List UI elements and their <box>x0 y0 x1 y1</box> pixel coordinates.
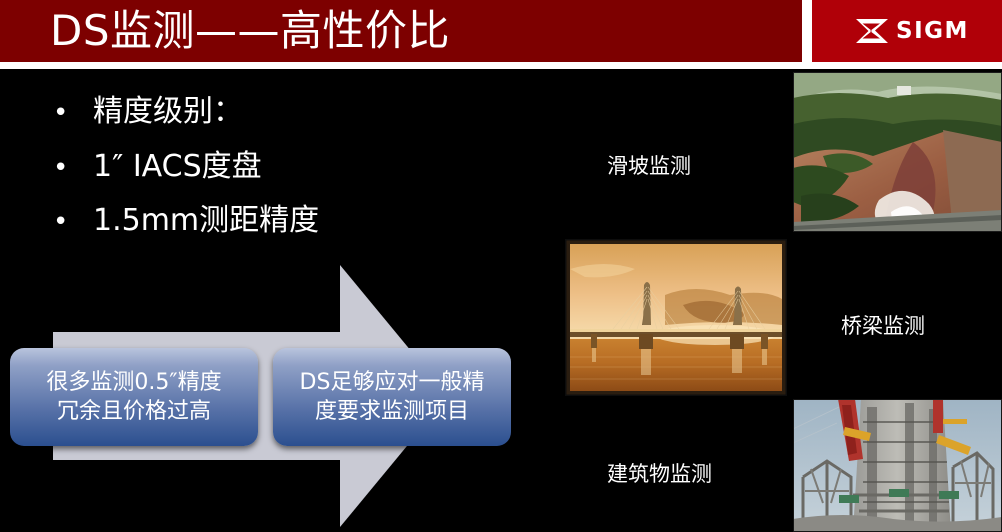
header-underline <box>0 62 1002 69</box>
page-title: DS监测——高性价比 <box>50 2 450 60</box>
problem-callout: 很多监测0.5″精度 冗余且价格过高 <box>10 348 258 446</box>
brand-logo: SIGM <box>855 14 975 48</box>
bullet-marker-icon: • <box>45 209 93 235</box>
building-photo <box>793 399 1002 532</box>
bullet-list: • 精度级别： • 1″ IACS度盘 • 1.5mm测距精度 <box>45 95 515 259</box>
presentation-slide: DS监测——高性价比 SIGM • 精度级别： • 1″ IACS度盘 • 1.… <box>0 0 1002 532</box>
sigma-arrow-mark-icon <box>855 18 889 44</box>
list-item: • 精度级别： <box>45 95 515 130</box>
logo-text: SIGM <box>896 18 969 44</box>
callout-line-1: DS足够应对一般精 <box>300 368 485 397</box>
caption-bridge: 桥梁监测 <box>841 310 925 340</box>
list-item: • 1″ IACS度盘 <box>45 150 515 185</box>
bullet-text: 1″ IACS度盘 <box>93 150 262 185</box>
bullet-text: 精度级别： <box>93 95 243 130</box>
list-item: • 1.5mm测距精度 <box>45 204 515 239</box>
caption-building: 建筑物监测 <box>607 458 712 488</box>
bullet-marker-icon: • <box>45 155 93 181</box>
slide-header: DS监测——高性价比 SIGM <box>0 0 1002 62</box>
bullet-marker-icon: • <box>45 100 93 126</box>
callout-line-2: 冗余且价格过高 <box>57 397 211 426</box>
bridge-photo <box>565 239 787 396</box>
solution-callout: DS足够应对一般精 度要求监测项目 <box>273 348 511 446</box>
callout-line-1: 很多监测0.5″精度 <box>46 368 221 397</box>
callout-line-2: 度要求监测项目 <box>315 397 469 426</box>
landslide-photo <box>793 72 1002 232</box>
caption-landslide: 滑坡监测 <box>607 150 691 180</box>
bullet-text: 1.5mm测距精度 <box>93 204 319 239</box>
header-divider <box>802 0 812 62</box>
